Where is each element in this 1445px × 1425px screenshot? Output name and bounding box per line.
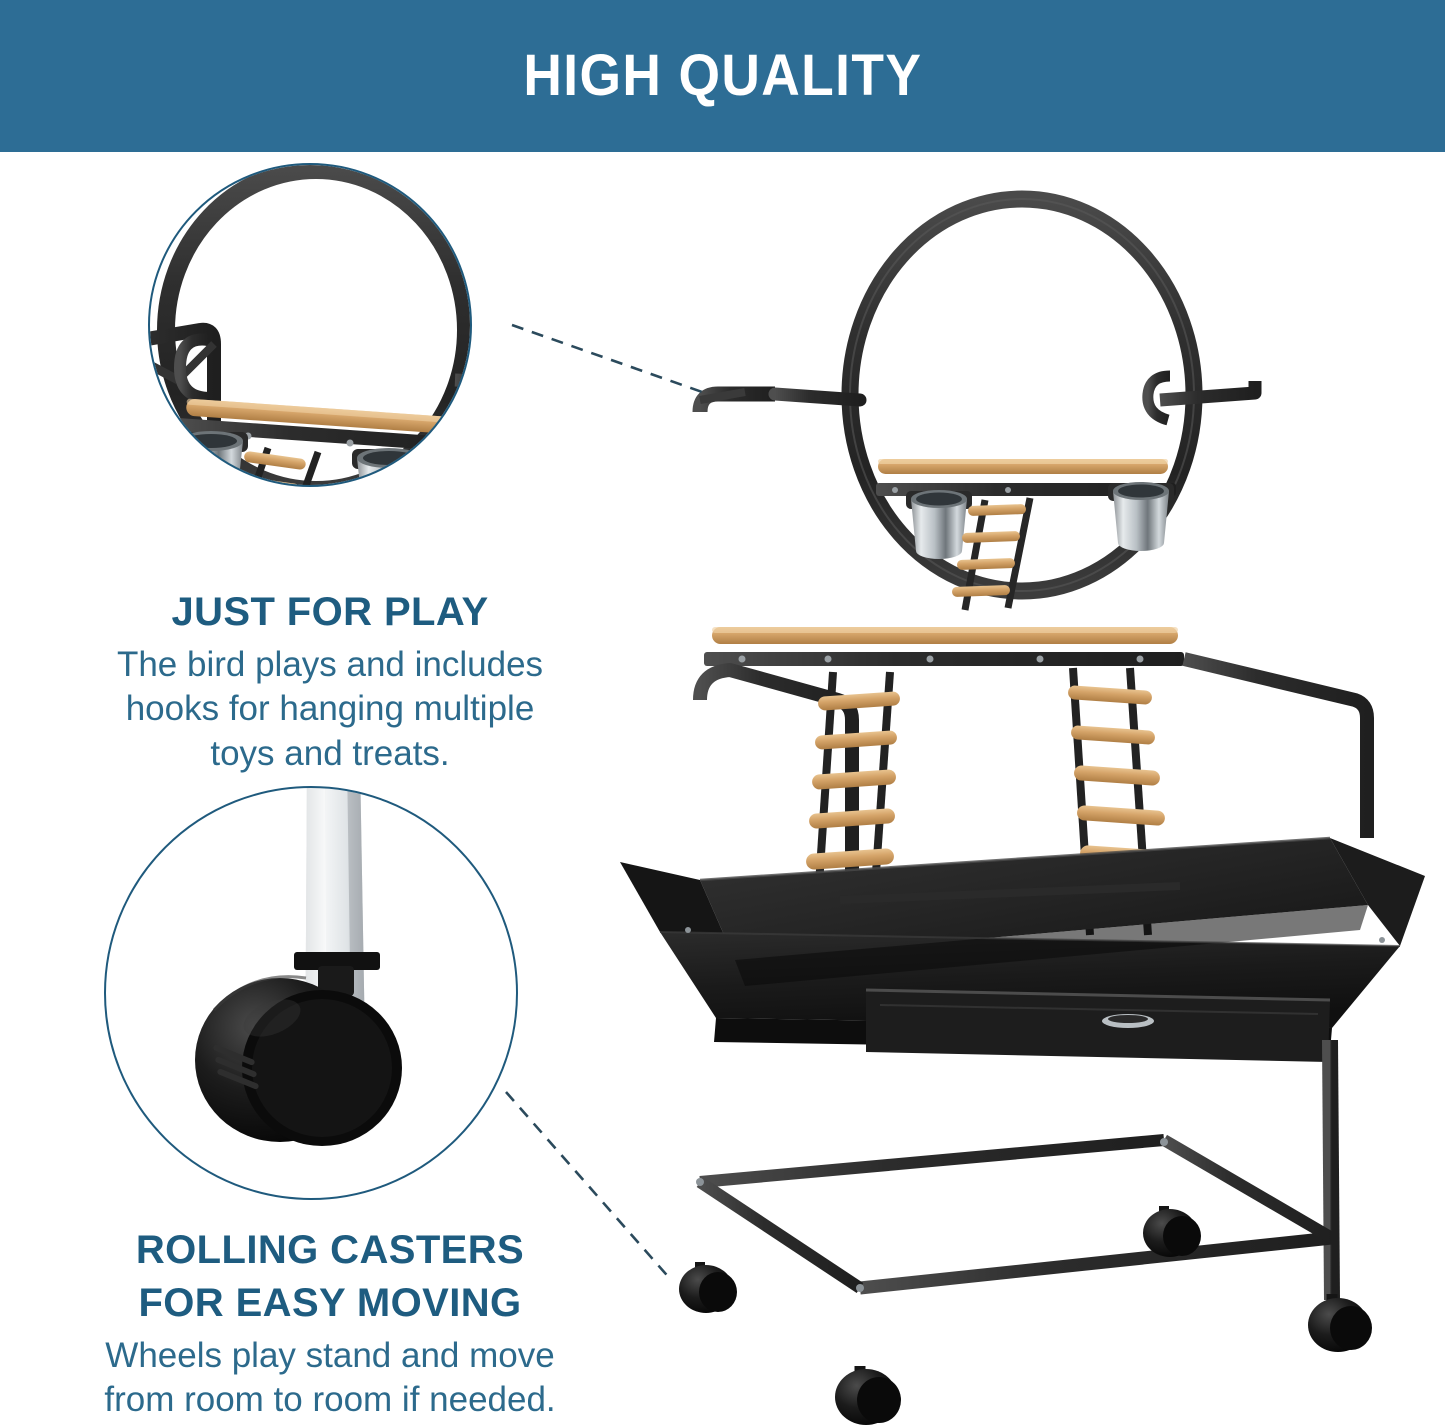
- top-cross-rail: [704, 652, 1184, 666]
- rolling-stand-frame: [696, 905, 1332, 1372]
- product-main-view: [620, 199, 1425, 1425]
- feature-desc-just-for-play-line-3: toys and treats.: [40, 732, 620, 776]
- toy-hanger-hook-right: [1148, 376, 1255, 420]
- infographic-page: HIGH QUALITY: [0, 0, 1445, 1425]
- feature-block-rolling-casters: ROLLING CASTERS FOR EASY MOVING Wheels p…: [30, 1228, 630, 1422]
- black-seed-tray: [620, 838, 1425, 1052]
- feature-desc-rolling-casters-line-2: from room to room if needed.: [30, 1378, 630, 1422]
- caster-wheel-front-right: [1308, 1294, 1372, 1352]
- feature-block-just-for-play: JUST FOR PLAY The bird plays and include…: [40, 590, 620, 776]
- stainless-feeder-cup-right: [1108, 482, 1174, 551]
- caster-wheel-rear-left: [679, 1262, 737, 1313]
- header-banner: HIGH QUALITY: [0, 0, 1445, 152]
- callout-circle-just-for-play: [148, 163, 472, 487]
- callout-circle-rolling-casters: [104, 786, 518, 1200]
- feature-title-rolling-casters-line-2: FOR EASY MOVING: [30, 1281, 630, 1326]
- right-side-handrail: [1184, 659, 1367, 838]
- feature-title-just-for-play: JUST FOR PLAY: [40, 590, 620, 635]
- leader-lines: [506, 325, 705, 1281]
- drawer-handle: [1102, 1014, 1154, 1028]
- toy-hanger-hook-left: [700, 392, 860, 400]
- perch-mounting-rail: [876, 483, 1176, 496]
- pull-out-drawer: [866, 990, 1330, 1062]
- page-title: HIGH QUALITY: [523, 47, 922, 105]
- hoop-ring-top: [850, 199, 1194, 591]
- wooden-perch-upper: [878, 459, 1168, 474]
- wooden-ladder-left: [803, 672, 901, 930]
- ladder-inside-hoop: [952, 498, 1030, 610]
- feature-desc-just-for-play-line-2: hooks for hanging multiple: [40, 687, 620, 731]
- left-upright-post: [700, 394, 775, 930]
- caster-wheel-front-left: [835, 1366, 901, 1425]
- feature-desc-just-for-play-line-1: The bird plays and includes: [40, 643, 620, 687]
- caster-wheel-rear-right: [1143, 1206, 1201, 1257]
- feature-desc-rolling-casters-line-1: Wheels play stand and move: [30, 1334, 630, 1378]
- feature-title-rolling-casters-line-1: ROLLING CASTERS: [30, 1228, 630, 1273]
- leader-line-play: [512, 325, 705, 393]
- left-curved-support: [700, 670, 852, 905]
- wooden-perch-main: [712, 627, 1178, 644]
- stainless-feeder-cup-left: [906, 490, 972, 559]
- wooden-ladder-right: [1068, 668, 1176, 935]
